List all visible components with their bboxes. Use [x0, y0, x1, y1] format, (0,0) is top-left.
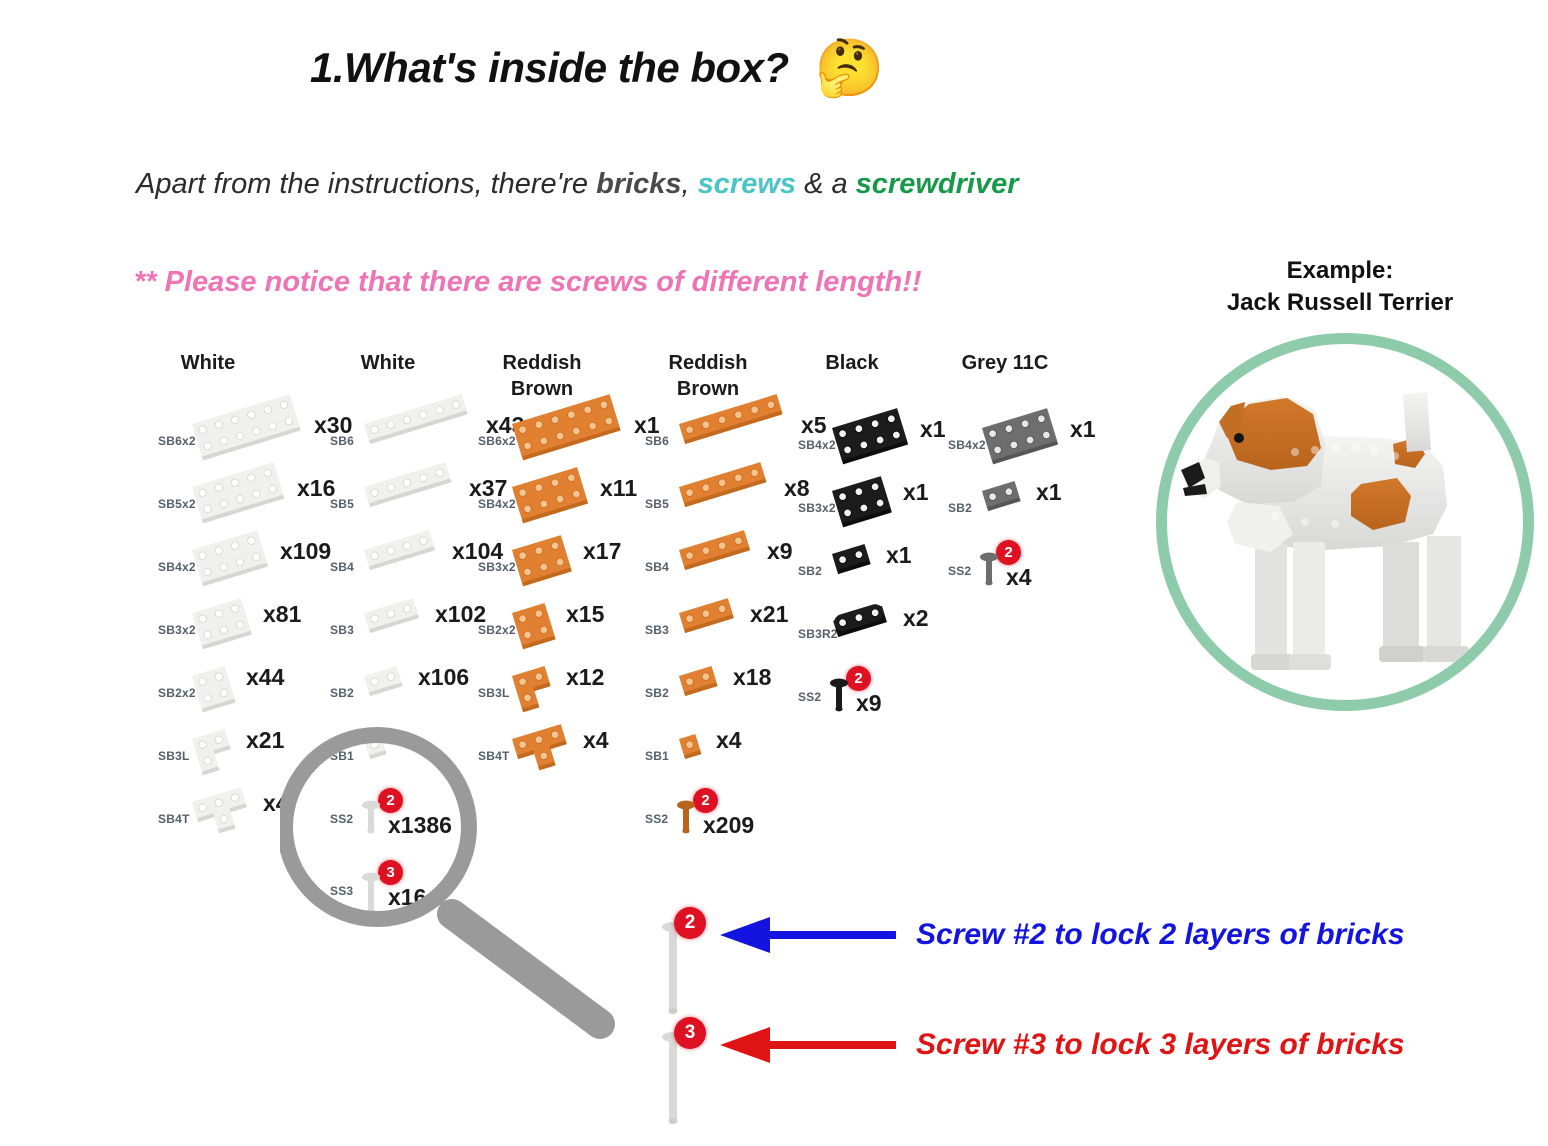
brick-icon	[360, 473, 471, 517]
page-title: 1.What's inside the box?	[310, 44, 789, 92]
column-header-line: Brown	[482, 376, 602, 402]
brick-icon	[978, 477, 1038, 521]
part-quantity: x5	[801, 412, 827, 439]
part-quantity: x9	[856, 690, 882, 717]
column-header-0: White	[148, 350, 268, 376]
legend-badge: 2	[674, 907, 706, 939]
brick-icon	[675, 725, 718, 769]
part-quantity: x4	[716, 727, 742, 754]
part-code: SS2	[330, 812, 353, 826]
legend-screw-icon: 2	[660, 905, 706, 1021]
part-code: SB5	[645, 497, 669, 511]
part-code: SB2	[645, 686, 669, 700]
brick-icon	[828, 414, 922, 475]
part-quantity: x1	[886, 542, 912, 569]
brick-icon	[188, 788, 265, 849]
part-code: SB2	[330, 686, 354, 700]
column-header-line: Brown	[648, 376, 768, 402]
example-label-line2: Jack Russell Terrier	[1140, 287, 1540, 319]
screw-icon	[677, 798, 703, 843]
column-header-line: Black	[792, 350, 912, 376]
part-quantity: x1	[1070, 416, 1096, 443]
legend-screw-icon: 3	[660, 1015, 706, 1131]
part-quantity: x11	[600, 475, 637, 502]
subtitle-comma: ,	[682, 168, 698, 200]
brick-icon	[188, 536, 282, 597]
column-header-line: Grey 11C	[945, 350, 1065, 376]
brick-icon	[508, 599, 568, 660]
example-label-line1: Example:	[1140, 255, 1540, 287]
brick-icon	[360, 662, 420, 706]
part-code: SB2	[798, 564, 822, 578]
subtitle-bricks: bricks	[596, 168, 681, 200]
part-quantity: x106	[418, 664, 469, 691]
part-quantity: x2	[903, 605, 929, 632]
column-header-1: White	[328, 350, 448, 376]
part-quantity: x15	[566, 601, 604, 628]
brick-icon	[508, 662, 568, 723]
brick-icon	[188, 662, 248, 723]
page-title-row: 1.What's inside the box? 🤔	[310, 40, 884, 96]
example-dog-circle	[1156, 333, 1534, 711]
part-code: SB4T	[478, 749, 509, 763]
part-quantity: x1	[903, 479, 929, 506]
part-code: SS2	[948, 564, 971, 578]
column-header-line: Reddish	[482, 350, 602, 376]
legend-row: 3 Screw #3 to lock 3 layers of bricks	[660, 1015, 1405, 1131]
brick-icon	[828, 477, 905, 538]
brick-icon	[675, 599, 752, 643]
part-quantity: x16	[388, 884, 426, 911]
part-code: SB4T	[158, 812, 189, 826]
subtitle-middle: & a	[796, 168, 856, 200]
legend-arrow-icon	[710, 1025, 900, 1065]
jack-russell-terrier-brick-model	[1175, 366, 1534, 696]
brick-icon	[828, 540, 888, 584]
part-quantity: x44	[246, 664, 284, 691]
part-code: SS3	[330, 884, 353, 898]
part-code: SB1	[330, 749, 354, 763]
brick-icon	[188, 599, 265, 660]
column-header-4: Black	[792, 350, 912, 376]
screw-icon	[362, 798, 388, 843]
part-quantity: x4	[1006, 564, 1032, 591]
brick-icon	[360, 725, 403, 769]
legend-badge: 3	[674, 1017, 706, 1049]
part-code: SB4	[645, 560, 669, 574]
brick-icon	[508, 473, 602, 534]
brick-icon	[188, 473, 299, 534]
brick-icon	[828, 603, 905, 647]
part-code: SB3L	[478, 686, 509, 700]
subtitle-screws: screws	[698, 168, 796, 200]
part-quantity: x18	[733, 664, 771, 691]
brick-icon	[188, 725, 248, 786]
column-header-line: White	[328, 350, 448, 376]
legend-row: 2 Screw #2 to lock 2 layers of bricks	[660, 905, 1405, 1021]
legend-arrow-icon	[710, 915, 900, 955]
brick-icon	[188, 410, 316, 471]
subtitle-prefix: Apart from the instructions, there're	[136, 168, 596, 200]
screw-icon	[362, 870, 388, 923]
part-code: SB1	[645, 749, 669, 763]
column-header-5: Grey 11C	[945, 350, 1065, 376]
part-code: SB3	[330, 623, 354, 637]
part-code: SB3	[645, 623, 669, 637]
part-quantity: x4	[583, 727, 609, 754]
brick-icon	[360, 536, 454, 580]
part-quantity: x4	[263, 790, 289, 817]
part-code: SB6	[330, 434, 354, 448]
part-quantity: x21	[750, 601, 788, 628]
part-code: SS2	[645, 812, 668, 826]
brick-icon	[508, 410, 636, 471]
column-header-3: ReddishBrown	[648, 350, 768, 402]
brick-icon	[508, 536, 585, 597]
legend-text: Screw #3 to lock 3 layers of bricks	[916, 1028, 1405, 1062]
thinking-face-emoji: 🤔	[815, 40, 885, 96]
column-header-2: ReddishBrown	[482, 350, 602, 402]
screw-icon	[980, 550, 1006, 595]
part-code: SB4	[330, 560, 354, 574]
brick-icon	[675, 662, 735, 706]
part-code: SS2	[798, 690, 821, 704]
part-quantity: x17	[583, 538, 621, 565]
subtitle-screwdriver: screwdriver	[856, 168, 1019, 200]
part-code: SB3L	[158, 749, 189, 763]
brick-icon	[978, 414, 1072, 475]
brick-icon	[675, 410, 803, 454]
part-quantity: x9	[767, 538, 793, 565]
subtitle: Apart from the instructions, there're br…	[136, 168, 1019, 201]
brick-icon	[675, 536, 769, 580]
part-quantity: x8	[784, 475, 810, 502]
legend-text: Screw #2 to lock 2 layers of bricks	[916, 918, 1405, 952]
part-quantity: x1	[920, 416, 946, 443]
screw-icon	[830, 676, 856, 721]
example-label: Example: Jack Russell Terrier	[1140, 255, 1540, 319]
part-code: SB6	[645, 434, 669, 448]
brick-icon	[360, 410, 488, 454]
part-quantity: x1	[1036, 479, 1062, 506]
part-quantity: x109	[280, 538, 331, 565]
part-quantity: x209	[703, 812, 754, 839]
part-code: SB5	[330, 497, 354, 511]
part-code: SB2	[948, 501, 972, 515]
brick-icon	[675, 473, 786, 517]
column-header-line: Reddish	[648, 350, 768, 376]
column-header-line: White	[148, 350, 268, 376]
brick-icon	[508, 725, 585, 786]
part-quantity: x21	[246, 727, 284, 754]
screw-length-notice: ** Please notice that there are screws o…	[134, 266, 922, 299]
brick-icon	[360, 599, 437, 643]
part-quantity: x1386	[388, 812, 452, 839]
part-quantity: x12	[566, 664, 604, 691]
part-quantity: x81	[263, 601, 301, 628]
